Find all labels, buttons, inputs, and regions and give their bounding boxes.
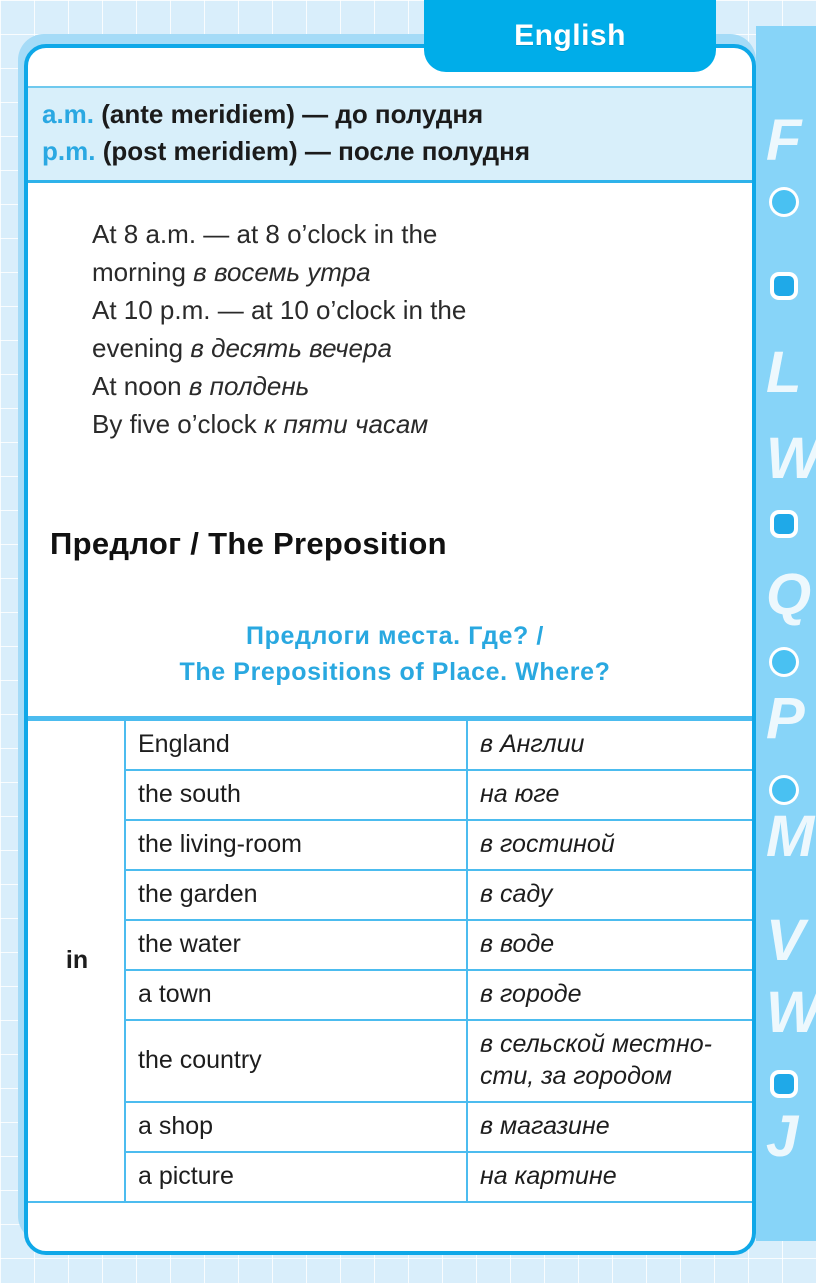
ampm-line-pm: p.m. (post meridiem) — после полудня (42, 133, 752, 170)
subject-tab-label: English (514, 19, 626, 53)
ampm-definition-band: a.m. (ante meridiem) — до полудня p.m. (… (28, 86, 752, 183)
ghost-letter-m: M (766, 808, 814, 866)
subject-tab-english[interactable]: English (424, 0, 716, 72)
example-en-1: At 8 a.m. — at 8 o’clock in the (92, 219, 437, 249)
example-line-5: At noon в полдень (92, 368, 712, 406)
example-line-6: By five o’clock к пяти часам (92, 406, 712, 444)
ampm-key-am: a.m. (42, 99, 94, 129)
table-cell-russian: в магазине (467, 1102, 752, 1152)
ampm-text-am: (ante meridiem) — до полудня (101, 99, 483, 129)
subtitle-russian: Предлоги места. Где? / (50, 618, 740, 654)
table-cell-english: a picture (125, 1152, 467, 1202)
table-cell-russian: на юге (467, 770, 752, 820)
ghost-square-icon-2 (774, 514, 794, 534)
example-ru-5: в полдень (189, 371, 309, 401)
example-en-2: morning (92, 257, 193, 287)
table-row: inEnglandв Англии (28, 720, 752, 770)
ghost-letter-f: F (766, 112, 801, 170)
ghost-letter-j: J (766, 1108, 798, 1166)
subtitle-english: The Prepositions of Place. Where? (50, 654, 740, 690)
example-sentences: At 8 a.m. — at 8 o’clock in the morning … (92, 216, 712, 444)
table-cell-english: the water (125, 920, 467, 970)
preposition-key-in: in (28, 720, 125, 1202)
table-cell-russian: в сельской местно-сти, за городом (467, 1020, 752, 1102)
table-cell-english: the garden (125, 870, 467, 920)
example-ru-2: в восемь утра (193, 257, 370, 287)
example-line-1: At 8 a.m. — at 8 o’clock in the (92, 216, 712, 254)
content-card: a.m. (ante meridiem) — до полудня p.m. (… (24, 44, 756, 1255)
table-cell-russian: в гостиной (467, 820, 752, 870)
ghost-letter-w-lower: W (766, 984, 816, 1042)
example-ru-4: в десять вечера (190, 333, 392, 363)
ghost-circle-icon-2 (772, 650, 796, 674)
table-row: the waterв воде (28, 920, 752, 970)
table-cell-russian: в Англии (467, 720, 752, 770)
example-en-3: At 10 p.m. — at 10 o’clock in the (92, 295, 466, 325)
ghost-letter-w-upper: W (766, 430, 816, 488)
table-cell-english: the country (125, 1020, 467, 1102)
section-subtitle: Предлоги места. Где? / The Prepositions … (50, 618, 740, 691)
ampm-key-pm: p.m. (42, 136, 95, 166)
ghost-square-icon-3 (774, 1074, 794, 1094)
table-cell-english: the living-room (125, 820, 467, 870)
ghost-letter-v: V (766, 912, 805, 970)
section-heading: Предлог / The Preposition (50, 526, 750, 562)
table-cell-russian: на картине (467, 1152, 752, 1202)
example-en-5: At noon (92, 371, 189, 401)
example-line-4: evening в десять вечера (92, 330, 712, 368)
example-en-6: By five o’clock (92, 409, 264, 439)
ghost-letter-p: P (766, 690, 805, 748)
ghost-circle-icon-3 (772, 778, 796, 802)
ghost-circle-icon (772, 190, 796, 214)
example-en-4: evening (92, 333, 190, 363)
table-row: the living-roomв гостиной (28, 820, 752, 870)
table-cell-english: a shop (125, 1102, 467, 1152)
table-row: the southна юге (28, 770, 752, 820)
table-cell-english: a town (125, 970, 467, 1020)
table-cell-russian: в саду (467, 870, 752, 920)
table-row: the countryв сельской местно-сти, за гор… (28, 1020, 752, 1102)
table-row: the gardenв саду (28, 870, 752, 920)
prepositions-table: inEnglandв Англииthe southна югеthe livi… (28, 716, 752, 1203)
ampm-text-pm: (post meridiem) — после полудня (103, 136, 530, 166)
ghost-square-icon (774, 276, 794, 296)
table-cell-english: the south (125, 770, 467, 820)
ghost-letter-l: L (766, 344, 801, 402)
prepositions-table-body: inEnglandв Англииthe southна югеthe livi… (28, 720, 752, 1202)
prepositions-table-grid: inEnglandв Англииthe southна югеthe livi… (28, 719, 752, 1203)
decorative-side-band: F L W Q P M V W J (756, 26, 816, 1241)
table-cell-russian: в городе (467, 970, 752, 1020)
example-ru-6: к пяти часам (264, 409, 428, 439)
ghost-letter-q: Q (766, 566, 811, 624)
table-row: a townв городе (28, 970, 752, 1020)
ampm-line-am: a.m. (ante meridiem) — до полудня (42, 96, 752, 133)
table-row: a pictureна картине (28, 1152, 752, 1202)
table-cell-english: England (125, 720, 467, 770)
table-cell-russian: в воде (467, 920, 752, 970)
table-row: a shopв магазине (28, 1102, 752, 1152)
example-line-3: At 10 p.m. — at 10 o’clock in the (92, 292, 712, 330)
example-line-2: morning в восемь утра (92, 254, 712, 292)
